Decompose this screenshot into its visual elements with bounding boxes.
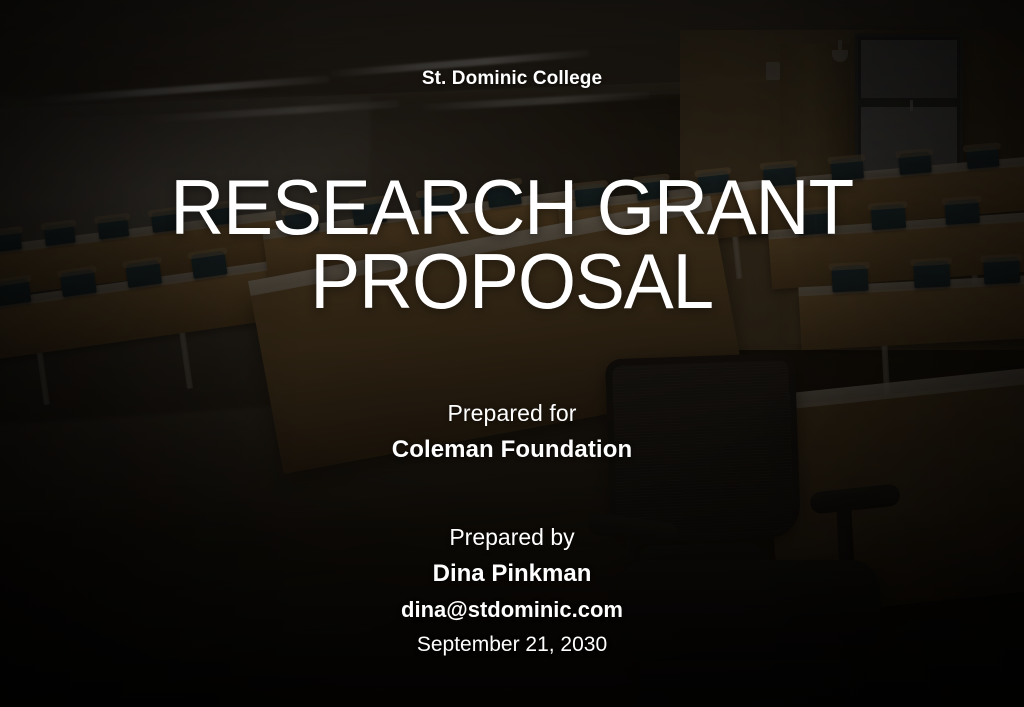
proposal-cover-page: St. Dominic College RESEARCH GRANT PROPO… xyxy=(0,0,1024,707)
prepared-by-name: Dina Pinkman xyxy=(433,560,592,588)
school-name: St. Dominic College xyxy=(422,68,602,90)
prepared-by-label: Prepared by xyxy=(449,524,574,551)
page-title-line-1: RESEARCH GRANT xyxy=(171,170,854,244)
cover-content: St. Dominic College RESEARCH GRANT PROPO… xyxy=(0,0,1024,707)
page-title-line-2: PROPOSAL xyxy=(171,244,854,318)
prepared-by-date: September 21, 2030 xyxy=(417,633,607,657)
prepared-by-email: dina@stdominic.com xyxy=(401,597,623,623)
prepared-for-label: Prepared for xyxy=(447,400,576,427)
page-title: RESEARCH GRANT PROPOSAL xyxy=(171,170,854,318)
prepared-for-value: Coleman Foundation xyxy=(392,436,632,464)
